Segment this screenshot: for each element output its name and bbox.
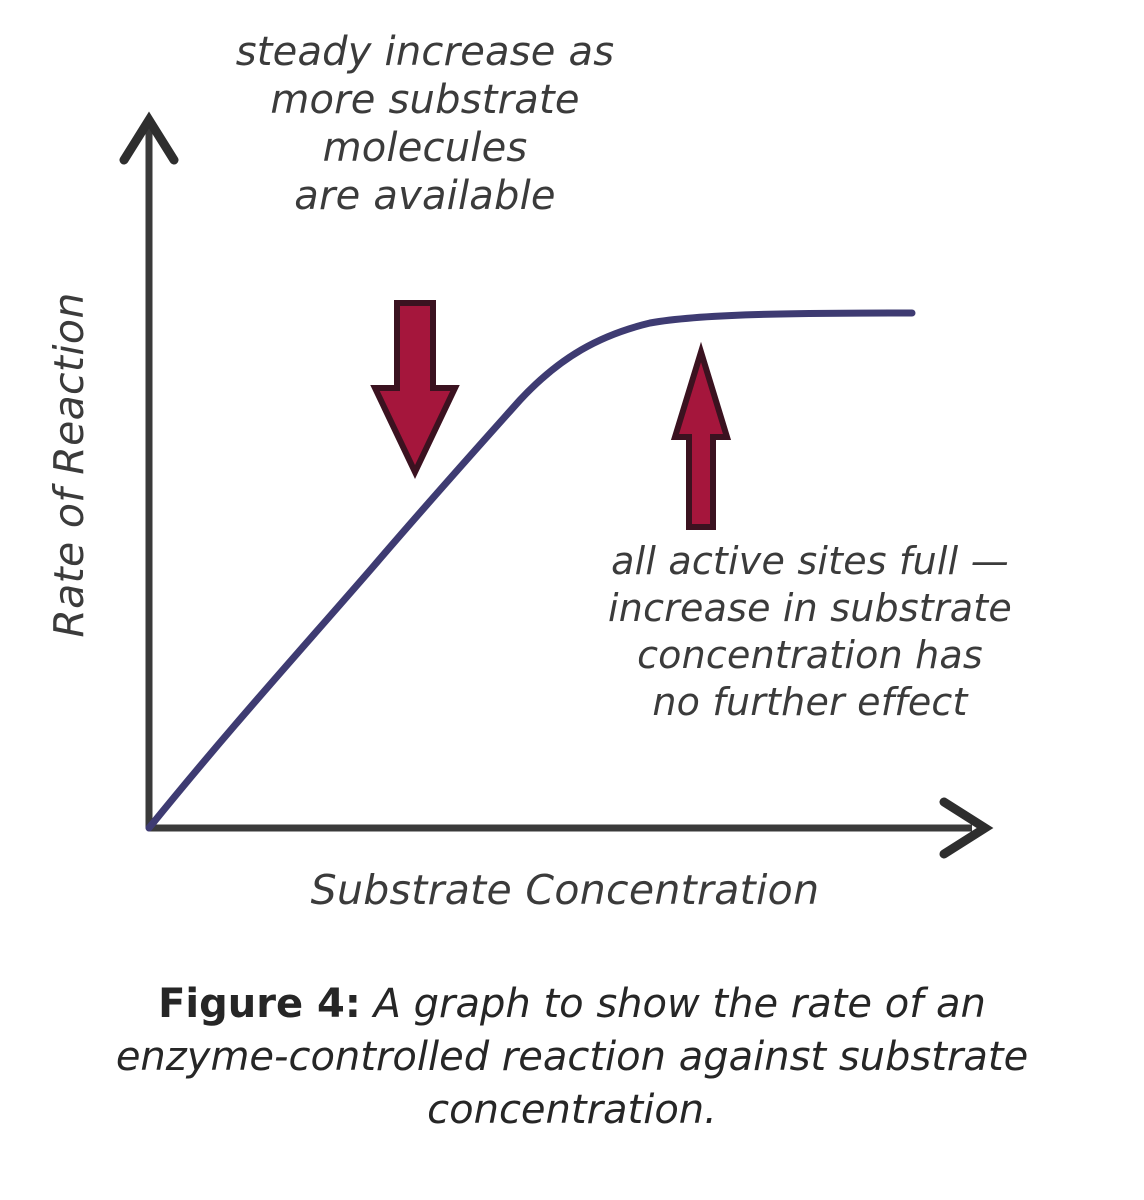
figure-caption: Figure 4: A graph to show the rate of an…: [72, 978, 1072, 1136]
y-axis-label: Rate of Reaction: [45, 292, 93, 637]
down-arrow-icon: [375, 303, 455, 472]
figure-enzyme-rate-graph: steady increase as more substrate molecu…: [0, 0, 1144, 1200]
figure-caption-label: Figure 4:: [158, 981, 361, 1027]
up-arrow-icon: [675, 352, 727, 527]
saturation-curve: [149, 313, 912, 828]
x-axis-label: Substrate Concentration: [150, 866, 980, 914]
y-axis-label-container: Rate of Reaction: [45, 265, 105, 665]
